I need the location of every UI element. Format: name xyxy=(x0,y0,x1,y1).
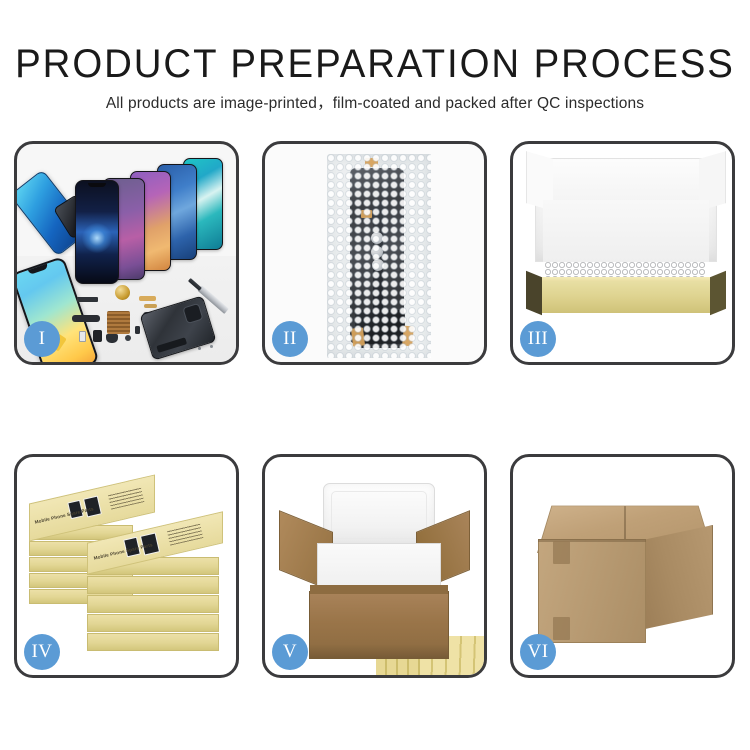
kraft-tray-box-image xyxy=(535,281,717,313)
step-badge-3: III xyxy=(520,321,556,357)
step-panel-5[interactable]: V xyxy=(262,454,487,678)
connector-part-1 xyxy=(135,326,140,334)
phone-wallpaper-burst xyxy=(82,223,112,253)
sim-tray-part xyxy=(79,331,86,342)
carton-front-panel xyxy=(309,591,449,659)
speaker-module-part xyxy=(106,334,118,343)
bubble-texture-overlay xyxy=(327,154,431,358)
carton-tape-patch-1 xyxy=(553,541,570,564)
speaker-coil-part xyxy=(115,285,130,300)
step-badge-6: VI xyxy=(520,634,556,670)
screw-part-3 xyxy=(198,347,201,350)
retail-box-front-4 xyxy=(87,614,219,632)
header: PRODUCT PREPARATION PROCESS All products… xyxy=(0,42,750,114)
home-button-part xyxy=(125,335,131,341)
gold-flex-part-2 xyxy=(144,304,157,308)
antenna-bar-part xyxy=(77,297,98,302)
step-panel-4[interactable]: Mobile Phone Spare Parts Mobile Phone Sp… xyxy=(14,454,239,678)
step-panel-6[interactable]: VI xyxy=(510,454,735,678)
foam-lining-image xyxy=(543,200,709,262)
page-title: PRODUCT PREPARATION PROCESS xyxy=(15,42,735,86)
stacked-retail-boxes-image: Mobile Phone Spare Parts Mobile Phone Sp… xyxy=(25,481,233,661)
step-panel-3[interactable]: III xyxy=(510,141,735,365)
step-badge-5: V xyxy=(272,634,308,670)
bubble-wrap-sleeve-image xyxy=(327,154,431,358)
retail-box-front-3 xyxy=(87,595,219,613)
logic-chip-part xyxy=(107,311,130,334)
screw-part-2 xyxy=(210,345,213,348)
step-panel-1[interactable]: I xyxy=(14,141,239,365)
gold-flex-part-1 xyxy=(139,296,156,301)
step-badge-2: II xyxy=(272,321,308,357)
phone-notch xyxy=(88,183,106,188)
step-badge-4: IV xyxy=(24,634,60,670)
flex-cable-part-1 xyxy=(72,315,100,322)
camera-module-part xyxy=(93,330,102,342)
page-subtitle: All products are image-printed，film-coat… xyxy=(0,94,750,114)
retail-box-front-2 xyxy=(87,576,219,594)
product-preparation-infographic: PRODUCT PREPARATION PROCESS All products… xyxy=(0,0,750,750)
step-panel-2[interactable]: II xyxy=(262,141,487,365)
step-badge-1: I xyxy=(24,321,60,357)
phone-black-image xyxy=(75,180,119,284)
carton-tape-patch-2 xyxy=(553,617,570,640)
sealed-carton-side xyxy=(645,525,713,629)
retail-box-front-5 xyxy=(87,633,219,651)
process-steps-grid: I II xyxy=(14,141,736,678)
